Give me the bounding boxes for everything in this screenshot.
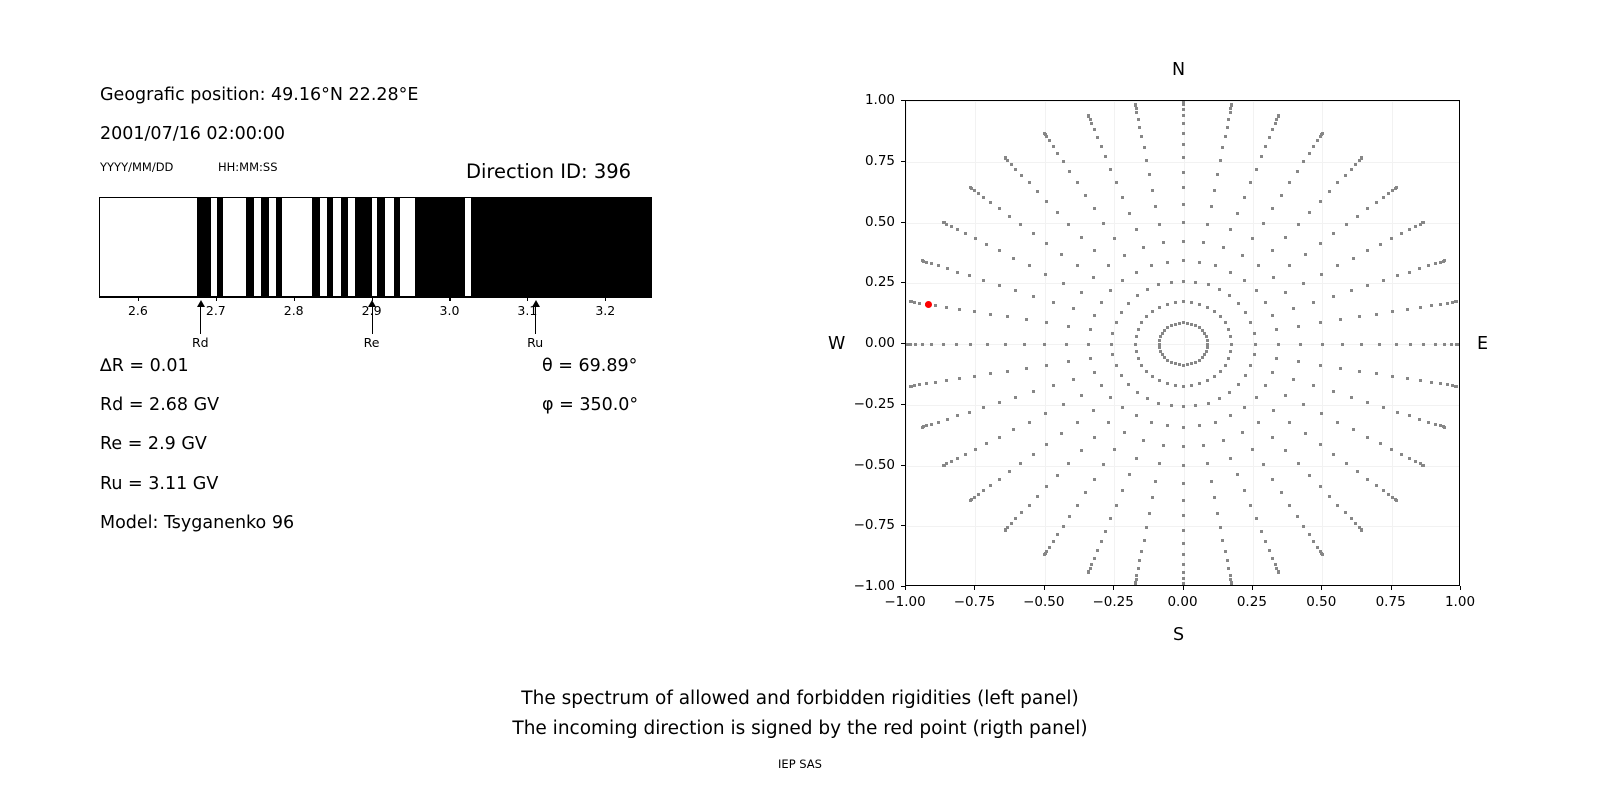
direction-point	[1255, 168, 1258, 171]
direction-point	[1163, 329, 1166, 332]
direction-point	[1344, 174, 1347, 177]
direction-point	[1014, 517, 1017, 520]
direction-point	[1387, 192, 1390, 195]
direction-point	[1218, 397, 1221, 400]
direction-point	[1227, 567, 1230, 570]
direction-point	[1328, 495, 1331, 498]
direction-point	[1158, 306, 1161, 309]
direction-point	[1202, 241, 1205, 244]
direction-point	[1145, 526, 1148, 529]
direction-point	[1174, 301, 1177, 304]
direction-point	[1213, 496, 1216, 499]
direction-point	[955, 343, 958, 346]
direction-point	[1084, 194, 1087, 197]
direction-point	[937, 421, 940, 424]
direction-point	[1056, 211, 1059, 214]
direction-point	[1062, 160, 1065, 163]
direction-point	[1146, 288, 1149, 291]
direction-point	[1210, 480, 1213, 483]
direction-point	[942, 464, 945, 467]
direction-point	[1067, 360, 1070, 363]
direction-point	[1332, 295, 1335, 298]
direction-point	[1434, 262, 1437, 265]
direction-point	[1140, 364, 1143, 367]
direction-point	[1358, 315, 1361, 318]
direction-point	[1060, 253, 1063, 256]
direction-point	[1102, 463, 1105, 466]
direction-point	[909, 385, 912, 388]
direction-point	[1339, 318, 1342, 321]
direction-point	[974, 237, 977, 240]
direction-point	[1093, 436, 1096, 439]
direction-point	[998, 401, 1001, 404]
direction-point	[968, 274, 971, 277]
direction-point	[1182, 364, 1185, 367]
direction-point	[1135, 228, 1138, 231]
direction-point	[1316, 139, 1319, 142]
direction-point	[1312, 145, 1315, 148]
direction-point	[998, 284, 1001, 287]
direction-point	[1230, 343, 1233, 346]
direction-point	[1213, 310, 1216, 313]
direction-point	[1434, 343, 1437, 346]
y-axis-tick	[901, 222, 905, 223]
forbidden-band	[261, 198, 269, 296]
direction-point	[1274, 122, 1277, 125]
direction-point	[1067, 325, 1070, 328]
direction-point	[1227, 328, 1230, 331]
grid-line-horizontal	[906, 283, 1459, 284]
figure-canvas: Geografic position: 49.16°N 22.28°E 2001…	[0, 0, 1600, 800]
direction-point	[1207, 402, 1210, 405]
direction-point	[1229, 350, 1232, 353]
forbidden-band	[471, 198, 652, 296]
direction-point	[1032, 453, 1035, 456]
direction-point	[1356, 215, 1359, 218]
direction-point	[1344, 511, 1347, 514]
direction-point	[934, 304, 937, 307]
direction-point	[1166, 303, 1169, 306]
direction-point	[1341, 343, 1344, 346]
direction-point	[930, 262, 933, 265]
direction-point	[1163, 356, 1166, 359]
x-axis-tick-label: −0.25	[1083, 594, 1143, 610]
direction-point	[1162, 241, 1165, 244]
direction-point	[1068, 170, 1071, 173]
direction-point	[1304, 253, 1307, 256]
direction-point	[1422, 464, 1425, 467]
direction-point	[1336, 504, 1339, 507]
direction-point	[1014, 168, 1017, 171]
direction-point	[1450, 343, 1453, 346]
direction-point	[1288, 181, 1291, 184]
direction-point	[1455, 385, 1458, 388]
direction-point	[930, 423, 933, 426]
direction-point	[1010, 522, 1013, 525]
direction-point	[1408, 228, 1411, 231]
direction-point	[1352, 428, 1355, 431]
direction-point	[1302, 282, 1305, 285]
direction-point	[1366, 478, 1369, 481]
direction-point	[905, 343, 908, 346]
direction-point	[1418, 267, 1421, 270]
direction-point	[1275, 357, 1278, 360]
direction-point	[1395, 499, 1398, 502]
direction-point	[1072, 378, 1075, 381]
direction-point	[1229, 414, 1232, 417]
direction-point	[1356, 470, 1359, 473]
direction-point	[1350, 289, 1353, 292]
direction-point	[1166, 359, 1169, 362]
direction-point	[1036, 190, 1039, 193]
direction-point	[982, 196, 985, 199]
direction-point	[1226, 126, 1229, 129]
direction-point	[1014, 396, 1017, 399]
y-axis-tick-label: 0.50	[839, 214, 895, 230]
direction-point	[1109, 396, 1112, 399]
direction-point	[925, 382, 928, 385]
re-value: Re = 2.9 GV	[100, 434, 207, 454]
direction-point	[1134, 103, 1137, 106]
time-format-label: HH:MM:SS	[218, 160, 278, 174]
direction-point	[1080, 236, 1083, 239]
direction-point	[968, 411, 971, 414]
direction-point	[1350, 517, 1353, 520]
direction-point	[1302, 525, 1305, 528]
direction-point	[1109, 517, 1112, 520]
grid-line-vertical	[1392, 101, 1393, 585]
direction-point	[1308, 533, 1311, 536]
direction-point	[1350, 168, 1353, 171]
forbidden-band	[217, 198, 223, 296]
direction-point	[1012, 428, 1015, 431]
direction-point	[1182, 321, 1185, 324]
direction-point	[1134, 582, 1137, 585]
x-axis-tick-label: −0.50	[1014, 594, 1074, 610]
direction-point	[1135, 271, 1138, 274]
direction-point	[1222, 439, 1225, 442]
direction-point	[989, 484, 992, 487]
direction-point	[1375, 484, 1378, 487]
direction-point	[1395, 186, 1398, 189]
y-axis-tick	[901, 465, 905, 466]
spectrum-axis-line	[99, 297, 652, 298]
x-axis-tick	[905, 586, 906, 590]
direction-point	[1014, 289, 1017, 292]
direction-point	[1182, 577, 1185, 580]
direction-point	[1255, 396, 1258, 399]
direction-point	[1182, 499, 1185, 502]
forbidden-band	[312, 198, 320, 296]
direction-point	[1087, 343, 1090, 346]
direction-point	[1182, 426, 1185, 429]
x-axis-tick	[1321, 586, 1322, 590]
direction-point	[1048, 139, 1051, 142]
direction-point	[1138, 559, 1141, 562]
direction-point	[1255, 517, 1258, 520]
direction-point	[1284, 236, 1287, 239]
direction-point	[1419, 379, 1422, 382]
direction-point	[1048, 546, 1051, 549]
direction-point	[1096, 549, 1099, 552]
direction-point	[1345, 223, 1348, 226]
direction-point	[1260, 155, 1263, 158]
date-format-label: YYYY/MM/DD	[100, 160, 173, 174]
direction-point	[1100, 145, 1103, 148]
direction-point	[1206, 306, 1209, 309]
direction-point	[1320, 412, 1323, 415]
direction-point	[1174, 323, 1177, 326]
direction-point	[1019, 462, 1022, 465]
y-axis-tick-label: 0.25	[839, 274, 895, 290]
direction-point	[1308, 152, 1311, 155]
direction-point	[1332, 390, 1335, 393]
y-axis-tick	[901, 282, 905, 283]
direction-point	[1275, 118, 1278, 121]
grid-line-horizontal	[906, 344, 1459, 345]
direction-point	[1113, 237, 1116, 240]
direction-point	[913, 301, 916, 304]
direction-point	[1206, 379, 1209, 382]
direction-point	[1264, 540, 1267, 543]
direction-point	[974, 448, 977, 451]
direction-point	[1093, 128, 1096, 131]
datetime-label: 2001/07/16 02:00:00	[100, 124, 285, 144]
x-axis-tick	[1252, 586, 1253, 590]
direction-point	[930, 343, 933, 346]
direction-point	[1093, 207, 1096, 210]
selected-direction-point	[925, 301, 932, 308]
direction-point	[1145, 315, 1148, 318]
direction-point	[1043, 132, 1046, 135]
direction-point	[1182, 571, 1185, 574]
direction-point	[1352, 257, 1355, 260]
direction-point	[1020, 174, 1023, 177]
direction-point	[1161, 332, 1164, 335]
direction-point	[942, 221, 945, 224]
direction-point	[1222, 246, 1225, 249]
direction-point	[1249, 321, 1252, 324]
direction-point	[1135, 414, 1138, 417]
direction-point	[921, 343, 924, 346]
direction-point	[989, 201, 992, 204]
direction-point	[1151, 189, 1154, 192]
direction-point	[1221, 146, 1224, 149]
direction-point	[1277, 571, 1280, 574]
direction-point	[1121, 196, 1124, 199]
direction-point	[1076, 181, 1079, 184]
spectrum-tick-label: 3.0	[429, 303, 469, 318]
direction-point	[909, 300, 912, 303]
direction-point	[964, 453, 967, 456]
direction-point	[1264, 145, 1267, 148]
direction-point	[1194, 281, 1197, 284]
direction-point	[1328, 190, 1331, 193]
direction-point	[982, 489, 985, 492]
direction-point	[1068, 515, 1071, 518]
direction-point	[1178, 322, 1181, 325]
direction-point	[1446, 383, 1449, 386]
model-value: Model: Tsyganenko 96	[100, 513, 294, 533]
direction-point	[1121, 406, 1124, 409]
direction-point	[1271, 371, 1274, 374]
direction-point	[1271, 249, 1274, 252]
direction-point	[1419, 306, 1422, 309]
caption-line-2: The incoming direction is signed by the …	[0, 718, 1600, 739]
direction-point	[1145, 370, 1148, 373]
direction-point	[1162, 444, 1165, 447]
direction-point	[1044, 412, 1047, 415]
direction-point	[1271, 436, 1274, 439]
spectrum-tick-label: 2.8	[274, 303, 314, 318]
direction-point	[1218, 288, 1221, 291]
direction-point	[1107, 421, 1110, 424]
direction-point	[1092, 409, 1095, 412]
direction-point	[1274, 563, 1277, 566]
direction-point	[1321, 553, 1324, 556]
x-axis-tick	[1113, 586, 1114, 590]
direction-point	[1214, 264, 1217, 267]
direction-point	[1182, 464, 1185, 467]
direction-point	[1186, 322, 1189, 325]
direction-point	[1280, 194, 1283, 197]
direction-point	[1135, 350, 1138, 353]
direction-point	[1151, 496, 1154, 499]
direction-point	[1052, 301, 1055, 304]
direction-point	[1028, 421, 1031, 424]
direction-point	[1319, 485, 1322, 488]
direction-point	[1292, 307, 1295, 310]
direction-point	[950, 460, 953, 463]
y-axis-tick-label: −0.75	[839, 517, 895, 533]
direction-point	[946, 418, 949, 421]
direction-point	[1408, 414, 1411, 417]
direction-point	[1336, 264, 1339, 267]
direction-point	[1019, 223, 1022, 226]
direction-point	[1221, 539, 1224, 542]
direction-point	[1299, 343, 1302, 346]
direction-point	[1360, 156, 1363, 159]
direction-point	[1308, 474, 1311, 477]
direction-point	[1297, 325, 1300, 328]
direction-point	[1087, 114, 1090, 117]
direction-point	[1120, 374, 1123, 377]
forbidden-band	[246, 198, 254, 296]
direction-point	[1320, 273, 1323, 276]
direction-point	[1104, 155, 1107, 158]
direction-point	[1151, 310, 1154, 313]
direction-point	[1205, 335, 1208, 338]
direction-point	[1427, 421, 1430, 424]
spectrum-axis-tick	[527, 297, 528, 301]
direction-point	[1312, 301, 1315, 304]
annotation-arrow-line	[535, 307, 536, 334]
direction-point	[1045, 364, 1048, 367]
direction-point	[1045, 200, 1048, 203]
direction-point	[1284, 394, 1287, 397]
direction-point	[1379, 442, 1382, 445]
direction-point	[1319, 321, 1322, 324]
direction-point	[1264, 301, 1267, 304]
direction-point	[1224, 550, 1227, 553]
spectrum-tick-label: 3.1	[507, 303, 547, 318]
direction-point	[1182, 108, 1185, 111]
direction-point	[1182, 553, 1185, 556]
direction-point	[1206, 346, 1209, 349]
direction-point	[1271, 207, 1274, 210]
annotation-arrow-head	[368, 300, 376, 307]
direction-point	[1406, 308, 1409, 311]
direction-point	[1056, 152, 1059, 155]
direction-point	[1236, 212, 1239, 215]
direction-point	[1137, 567, 1140, 570]
direction-point	[1010, 163, 1013, 166]
direction-point	[1400, 453, 1403, 456]
direction-point	[1174, 362, 1177, 365]
direction-point	[1036, 495, 1039, 498]
direction-point	[1115, 321, 1118, 324]
direction-point	[1056, 474, 1059, 477]
direction-point	[1430, 381, 1433, 384]
direction-point	[1100, 540, 1103, 543]
direction-point	[1170, 361, 1173, 364]
direction-point	[1182, 132, 1185, 135]
annotation-label-rd: Rd	[180, 335, 220, 350]
direction-point	[1224, 321, 1227, 324]
direction-point	[1076, 264, 1079, 267]
direction-point	[1400, 232, 1403, 235]
direction-point	[1111, 332, 1114, 335]
direction-point	[1237, 383, 1240, 386]
direction-point	[1272, 276, 1275, 279]
direction-point	[1271, 478, 1274, 481]
direction-point	[1455, 300, 1458, 303]
direction-point	[1182, 240, 1185, 243]
direction-point	[1206, 343, 1209, 346]
direction-point	[1127, 383, 1130, 386]
direction-point	[1166, 382, 1169, 385]
direction-point	[1387, 493, 1390, 496]
direction-point	[913, 384, 916, 387]
direction-point	[1366, 249, 1369, 252]
direction-point	[909, 343, 912, 346]
direction-point	[1148, 512, 1151, 515]
direction-point	[1174, 384, 1177, 387]
direction-point	[1253, 332, 1256, 335]
direction-point	[1312, 384, 1315, 387]
direction-point	[1135, 574, 1138, 577]
direction-point	[1414, 460, 1417, 463]
direction-point	[1319, 200, 1322, 203]
direction-point	[1213, 189, 1216, 192]
direction-point	[1043, 343, 1046, 346]
direction-point	[1115, 504, 1118, 507]
direction-point	[1052, 145, 1055, 148]
direction-point	[958, 308, 961, 311]
direction-point	[969, 499, 972, 502]
direction-point	[1228, 391, 1231, 394]
x-axis-tick	[974, 586, 975, 590]
forbidden-band	[327, 198, 333, 296]
direction-point	[1336, 421, 1339, 424]
direction-point	[1319, 364, 1322, 367]
direction-point	[1092, 276, 1095, 279]
direction-point	[1439, 382, 1442, 385]
direction-point	[982, 406, 985, 409]
direction-point	[1207, 283, 1210, 286]
direction-point	[998, 436, 1001, 439]
direction-point	[1170, 281, 1173, 284]
